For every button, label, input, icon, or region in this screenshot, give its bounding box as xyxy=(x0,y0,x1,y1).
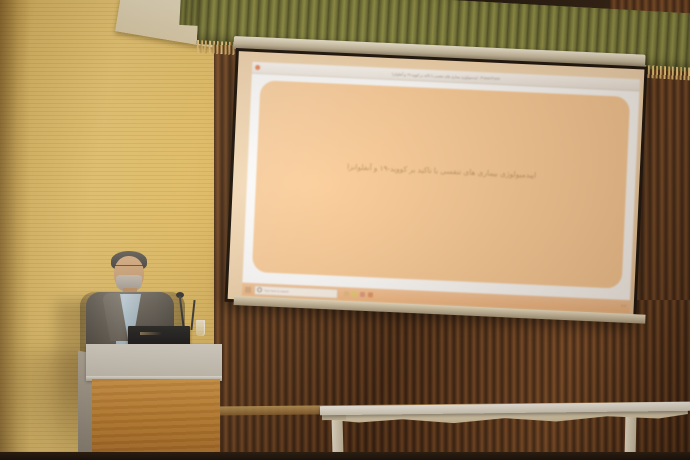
slide-canvas: اپیدمیولوژی بیماری های تنفسی با تاکید بر… xyxy=(242,74,639,300)
podium-emblem-icon xyxy=(86,346,222,378)
glasses-icon xyxy=(115,265,143,272)
laptop-screen-glint xyxy=(140,332,162,335)
projection-screen: اپیدمیولوژی بیماری های تنفسی با تاکید بر… xyxy=(224,48,647,320)
podium-front-panel xyxy=(86,344,222,380)
taskbar-system-tray[interactable]: ENG xyxy=(621,300,627,313)
taskbar-pinned-icons[interactable] xyxy=(344,291,373,297)
tray-language-text: ENG xyxy=(621,305,627,308)
app-title-text: اپیدمیولوژی بیماری های تنفسی با تاکید بر… xyxy=(392,72,500,81)
slide-content-box: اپیدمیولوژی بیماری های تنفسی با تاکید بر… xyxy=(252,80,630,289)
powerpoint-icon[interactable] xyxy=(368,292,373,297)
slide-title-text: اپیدمیولوژی بیماری های تنفسی با تاکید بر… xyxy=(347,162,537,180)
water-glass xyxy=(196,320,205,336)
floor-strip xyxy=(0,452,690,460)
search-icon xyxy=(257,287,262,292)
screen-surface: اپیدمیولوژی بیماری های تنفسی با تاکید بر… xyxy=(228,51,645,317)
projected-desktop: اپیدمیولوژی بیماری های تنفسی با تاکید بر… xyxy=(242,62,640,313)
folder-icon[interactable] xyxy=(344,291,349,296)
podium-body xyxy=(92,379,220,460)
start-button-icon[interactable] xyxy=(245,286,251,292)
wood-paneling-lower xyxy=(214,300,690,460)
mail-icon[interactable] xyxy=(352,292,357,297)
taskbar-search-input[interactable]: Type here to search xyxy=(254,285,338,299)
browser-icon[interactable] xyxy=(360,292,365,297)
lecture-hall-scene: اپیدمیولوژی بیماری های تنفسی با تاکید بر… xyxy=(0,0,690,460)
search-placeholder-text: Type here to search xyxy=(264,288,289,293)
app-close-icon[interactable] xyxy=(255,65,260,70)
